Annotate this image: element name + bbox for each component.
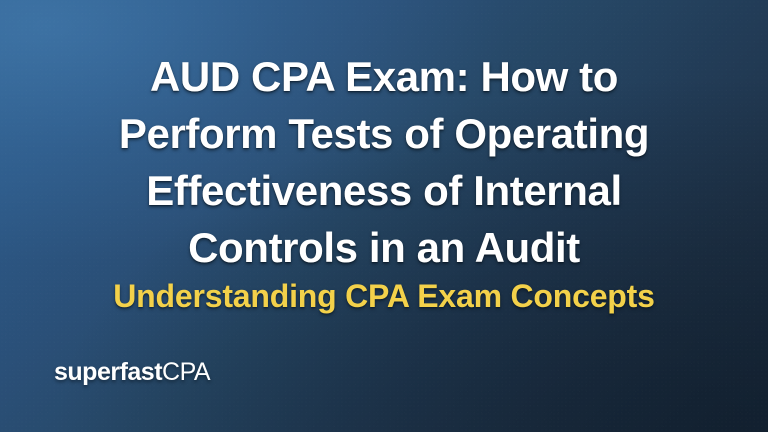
page-title: AUD CPA Exam: How to Perform Tests of Op… — [0, 48, 768, 276]
title-line-2: Perform Tests of Operating — [22, 105, 746, 162]
title-line-4: Controls in an Audit — [22, 219, 746, 276]
title-card-slide: AUD CPA Exam: How to Perform Tests of Op… — [0, 0, 768, 432]
page-subtitle: Understanding CPA Exam Concepts — [0, 276, 768, 316]
title-line-3: Effectiveness of Internal — [22, 162, 746, 219]
brand-logo-primary: superfast — [54, 358, 162, 386]
brand-logo-secondary: CPA — [162, 358, 210, 386]
brand-logo: superfastCPA — [54, 357, 210, 387]
slide-content: AUD CPA Exam: How to Perform Tests of Op… — [0, 0, 768, 432]
title-line-1: AUD CPA Exam: How to — [22, 48, 746, 105]
